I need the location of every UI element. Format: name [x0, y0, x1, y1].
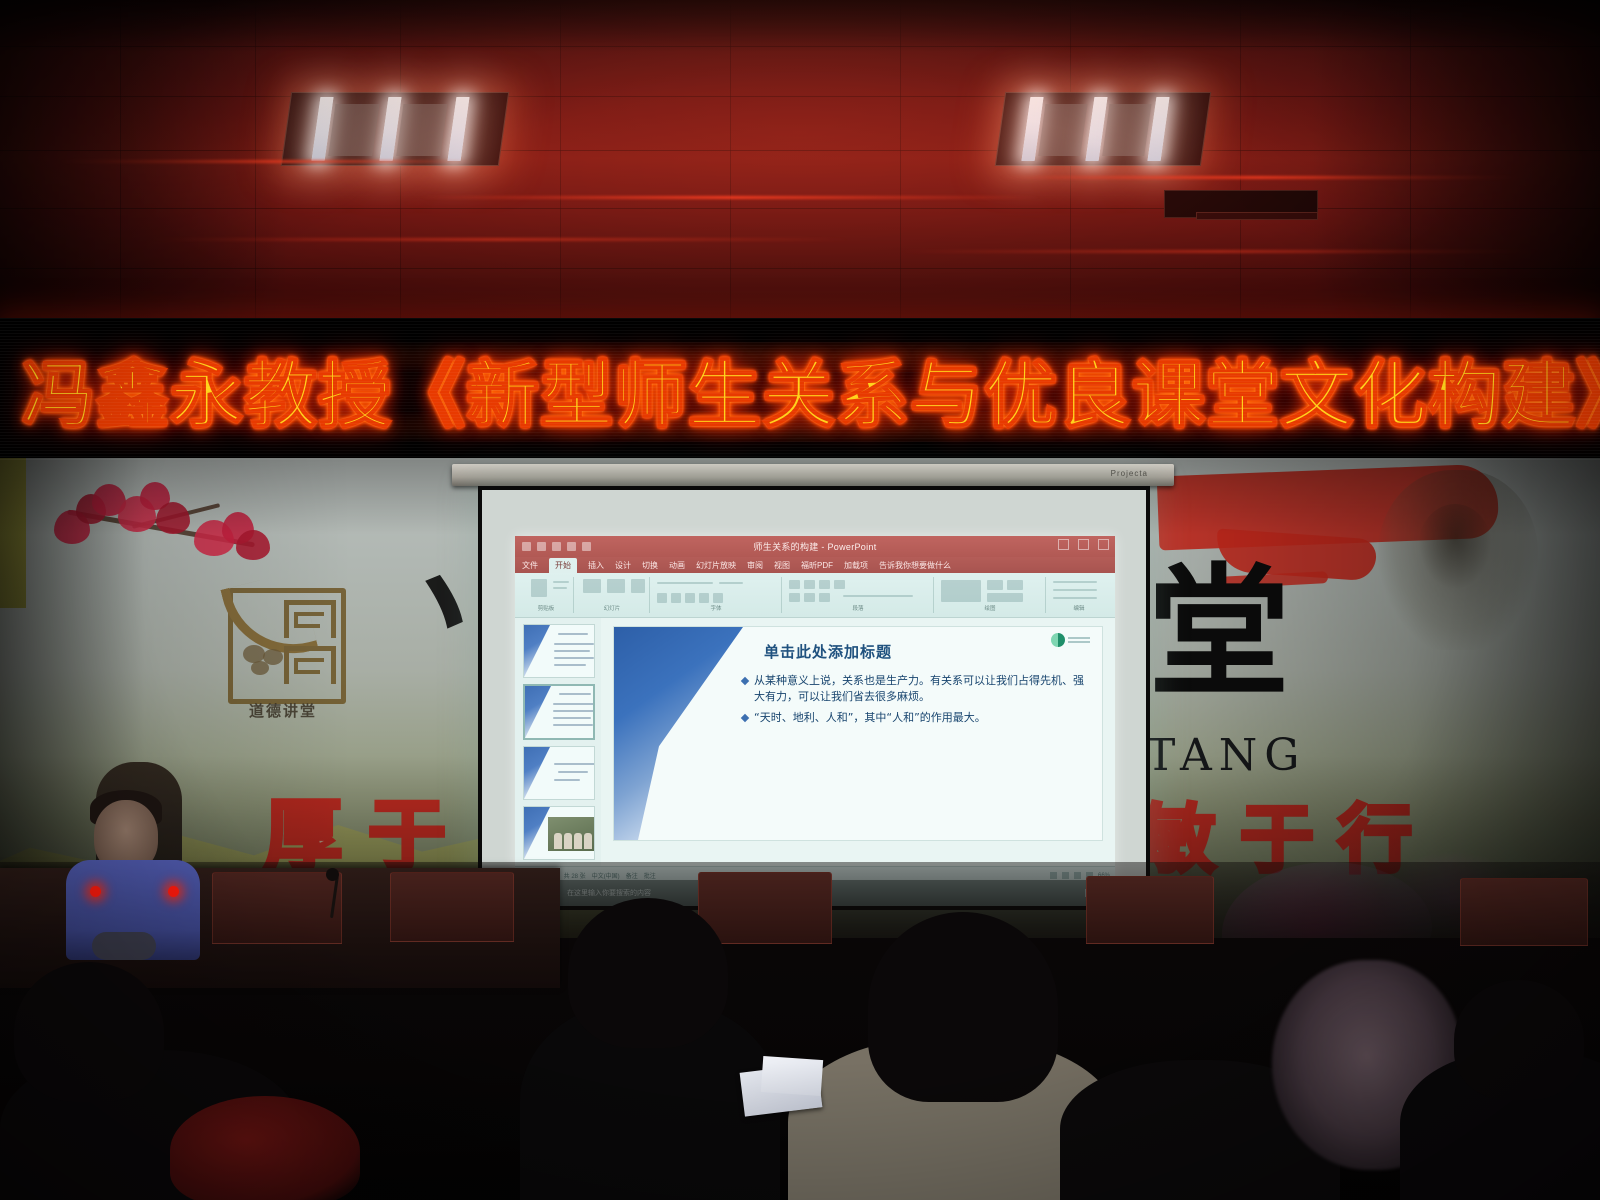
tab-home[interactable]: 开始: [549, 558, 577, 573]
powerpoint-window[interactable]: 师生关系的构建 - PowerPoint 文件 开始 插入 设计 切换 动画 幻…: [515, 536, 1115, 884]
tab-review[interactable]: 审阅: [747, 560, 763, 571]
window-controls[interactable]: [1058, 539, 1109, 550]
slide-editing-stage[interactable]: 单击此处添加标题 从某种意义上说，关系也是生产力。有关系可以让我们占得先机、强大…: [601, 618, 1115, 867]
ribbon-group-label: 剪贴板: [519, 604, 573, 612]
tab-design[interactable]: 设计: [615, 560, 631, 571]
audience-member-head: [14, 962, 164, 1102]
ribbon-group-label: 编辑: [1047, 604, 1111, 612]
tab-tell-me[interactable]: 告诉我你想要做什么: [879, 560, 951, 571]
minimize-icon[interactable]: [1058, 539, 1069, 550]
document-title: 师生关系的构建 - PowerPoint: [515, 540, 1115, 553]
slide-bullet: 从某种意义上说，关系也是生产力。有关系可以让我们占得先机、强大有力，可以让我们省…: [742, 673, 1090, 704]
ribbon-group-label: 段落: [783, 604, 933, 612]
current-slide[interactable]: 单击此处添加标题 从某种意义上说，关系也是生产力。有关系可以让我们占得先机、强大…: [613, 626, 1103, 841]
audience-red-garment: [170, 1096, 360, 1200]
projector-screen-housing: Projecta: [452, 464, 1174, 486]
slide-body[interactable]: 从某种意义上说，关系也是生产力。有关系可以让我们占得先机、强大有力，可以让我们省…: [742, 673, 1090, 732]
indicator-light-left: [90, 886, 101, 897]
tab-file[interactable]: 文件: [522, 560, 538, 571]
photo-scene: 冯鑫永教授《新型师生关系与优良课堂文化构建》专题讲座: [0, 0, 1600, 1200]
close-icon[interactable]: [1098, 539, 1109, 550]
tab-animations[interactable]: 动画: [669, 560, 685, 571]
ribbon-group-font[interactable]: 字体: [651, 577, 782, 613]
speaker-at-head-table: [62, 790, 202, 960]
stage-chair: [390, 872, 514, 942]
slide-thumbnail[interactable]: [523, 746, 595, 800]
led-scrolling-banner: 冯鑫永教授《新型师生关系与优良课堂文化构建》专题讲座: [0, 318, 1600, 460]
tab-addins[interactable]: 加载项: [844, 560, 868, 571]
stage-chair: [212, 872, 342, 944]
ribbon[interactable]: 剪贴板 幻灯片 字体: [515, 573, 1115, 618]
tab-insert[interactable]: 插入: [588, 560, 604, 571]
slide-thumbnail-selected[interactable]: [523, 684, 595, 740]
tab-transitions[interactable]: 切换: [642, 560, 658, 571]
stage-chair: [1460, 878, 1588, 946]
ribbon-group-label: 绘图: [935, 604, 1045, 612]
ribbon-group-drawing[interactable]: 绘图: [935, 577, 1046, 613]
projector-brand-label: Projecta: [1111, 469, 1148, 478]
stage-chair: [698, 872, 832, 944]
tab-foxit-pdf[interactable]: 福昕PDF: [801, 560, 833, 571]
table-microphone-head: [326, 868, 339, 881]
restore-icon[interactable]: [1078, 539, 1089, 550]
ribbon-group-label: 幻灯片: [575, 604, 649, 612]
audience-member-head: [1454, 980, 1584, 1100]
slide-thumbnail[interactable]: [523, 624, 595, 678]
ribbon-group-slides[interactable]: 幻灯片: [575, 577, 650, 613]
thumbnail-photo: [548, 817, 595, 851]
indicator-light-right: [168, 886, 179, 897]
stage-chair: [1086, 876, 1214, 944]
slide-bullet: “天时、地利、人和”，其中“人和”的作用最大。: [742, 710, 1090, 726]
ceiling: [0, 0, 1600, 330]
tab-slideshow[interactable]: 幻灯片放映: [696, 560, 736, 571]
slide-design-swoosh: [614, 627, 764, 840]
slide-title[interactable]: 单击此处添加标题: [764, 641, 1088, 662]
tab-view[interactable]: 视图: [774, 560, 790, 571]
slide-thumbnail-pane[interactable]: [515, 618, 602, 867]
audience-member-head: [568, 898, 728, 1048]
ribbon-group-editing[interactable]: 编辑: [1047, 577, 1111, 613]
speaker-hands: [92, 932, 156, 960]
audience-member-head: [868, 912, 1058, 1102]
slide-thumbnail[interactable]: [523, 806, 595, 860]
projector-screen-surface: 师生关系的构建 - PowerPoint 文件 开始 插入 设计 切换 动画 幻…: [482, 490, 1146, 906]
ribbon-group-label: 字体: [651, 604, 781, 612]
led-banner-text: 冯鑫永教授《新型师生关系与优良课堂文化构建》专题讲座: [22, 336, 1600, 442]
ribbon-tab-strip[interactable]: 文件 开始 插入 设计 切换 动画 幻灯片放映 审阅 视图 福昕PDF 加载项 …: [515, 557, 1115, 573]
handout-papers-second-sheet: [761, 1056, 823, 1096]
ribbon-group-paragraph[interactable]: 段落: [783, 577, 934, 613]
powerpoint-title-bar: 师生关系的构建 - PowerPoint: [515, 536, 1115, 557]
ribbon-group-clipboard[interactable]: 剪贴板: [519, 577, 574, 613]
